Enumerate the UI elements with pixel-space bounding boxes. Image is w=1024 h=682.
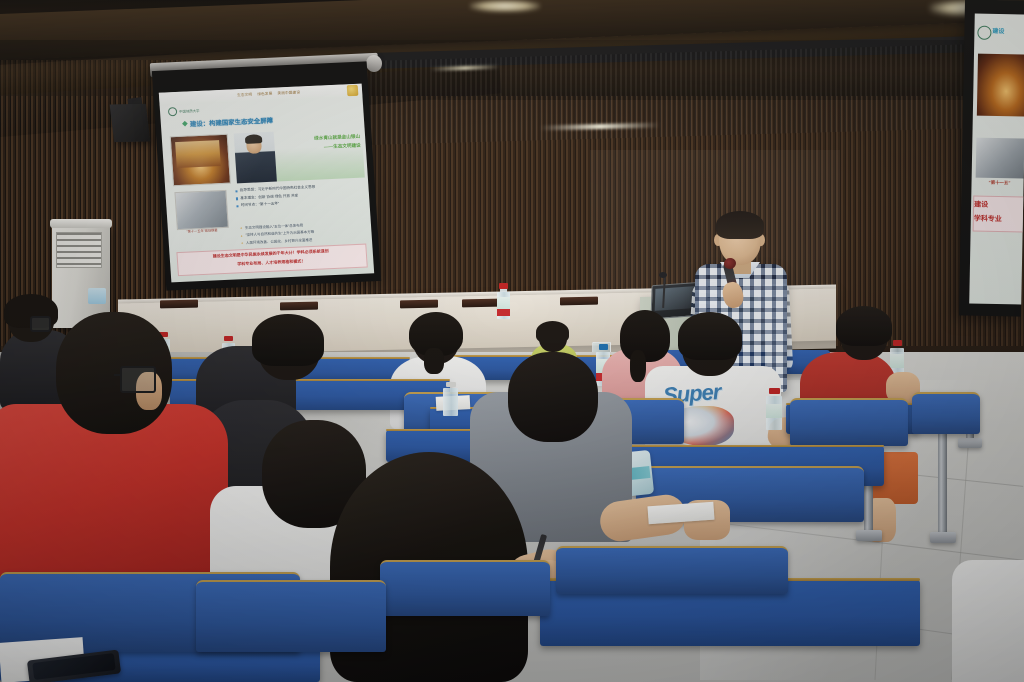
eyeglasses-bridge [114, 374, 122, 376]
seat[interactable] [790, 398, 908, 446]
secondary-slide-caption: “第十一五” [975, 180, 1023, 187]
bottle-cap [769, 388, 780, 394]
bullet-square-icon [236, 197, 239, 199]
air-conditioner-top [50, 219, 112, 228]
desk-pole-foot [958, 438, 982, 448]
table-clip [160, 300, 198, 309]
bottle-cap [224, 336, 233, 341]
bottle-cap [446, 382, 456, 387]
slide-badge-icon [347, 85, 359, 96]
slide-topbar-item-0: 生态文明 [237, 92, 253, 98]
secondary-highlight-line-1: 学科专业 [974, 213, 1024, 228]
presenter-hair [716, 211, 764, 239]
bottle-label-red [497, 309, 510, 316]
water-bottle[interactable] [443, 382, 459, 416]
slide-green-banner: 绿水青山就是金山银山 ——生态文明建设 [286, 132, 361, 157]
secondary-slide-subphoto [976, 138, 1024, 179]
secondary-slide-title: 建设 [992, 26, 1024, 36]
slide-topbar-item-1: 绿色发展 [257, 91, 273, 97]
air-conditioner-panel[interactable] [88, 288, 106, 304]
desk-support-pole [938, 416, 947, 538]
audience-person-ponytail [424, 348, 444, 374]
bottle-cap [599, 344, 608, 350]
bottle-label [890, 354, 904, 368]
slide-bullet-list-1: 指导思想：习近平新时代中国特色社会主义思想 基本理念：创新 协调 绿色 开放 共… [235, 182, 365, 222]
bottle-cap [893, 340, 902, 346]
secondary-slide-highlight-text: 建设 学科专业 [974, 199, 1024, 228]
seat[interactable] [380, 560, 550, 616]
table-clip [462, 299, 500, 308]
air-vent-icon [56, 232, 102, 268]
seat[interactable] [196, 580, 386, 652]
table-clip [560, 297, 598, 306]
secondary-screen-surface[interactable]: 建设 “第十一五” 建设 学科专业 [969, 14, 1024, 305]
slide-topbar-item-2: 美丽中国建设 [277, 90, 300, 96]
slide-org-name: 中国地质大学 [179, 107, 200, 113]
table-clip [400, 300, 438, 309]
desk-pole-foot [856, 530, 882, 541]
audience-person-head [508, 352, 598, 442]
bullet-star-icon: ✦ [241, 242, 244, 245]
slide-bullet-2: 时间节点：“第十一五年” [241, 201, 280, 210]
audience-person-hair [836, 306, 892, 346]
logo-mark-icon [168, 106, 178, 115]
secondary-highlight-line-0: 建设 [974, 199, 1024, 214]
water-bottle[interactable] [766, 388, 783, 430]
seat[interactable] [556, 546, 788, 594]
slide-title-bullet-icon [182, 121, 188, 127]
slide-secondary-photo [174, 190, 228, 230]
slide-title-text: 建设：构建国家生态安全屏障 [190, 115, 274, 128]
table-clip [280, 302, 318, 311]
water-bottle[interactable] [497, 283, 511, 319]
audience-person-ponytail [630, 350, 646, 382]
audience-person-hair [678, 312, 742, 360]
audience-person-hair [252, 314, 324, 366]
secondary-slide-logo-icon [977, 26, 991, 40]
eyeglasses-icon [30, 316, 51, 332]
bullet-star-icon: ✦ [240, 235, 243, 238]
audience-person-torso [952, 560, 1024, 682]
bottle-label [766, 404, 782, 418]
slide-org-logo: 中国地质大学 [168, 105, 212, 115]
bullet-square-icon [236, 205, 239, 207]
audience-person-hair [620, 310, 670, 362]
slide-secondary-photo-caption: “第十一五年”规划纲要 [177, 227, 227, 236]
desk-edge [628, 445, 884, 447]
audience-person-hair [536, 321, 569, 343]
slide-photo-hall-detail [175, 140, 221, 168]
desk-pole-foot [930, 532, 956, 543]
slide-green-line-1: ——生态文明建设 [286, 141, 361, 153]
bullet-square-icon [235, 190, 238, 192]
loudspeaker-icon [110, 104, 151, 142]
slide-portrait-hair [245, 134, 263, 144]
seat[interactable] [912, 392, 980, 434]
bottle-body [443, 388, 458, 416]
ceiling-light-center-icon [470, 0, 540, 12]
microphone-icon[interactable] [659, 272, 667, 278]
lecture-hall-photo: 生态文明 绿色发展 美丽中国建设 中国地质大学 建设：构建国家生态安全屏障 绿水… [0, 0, 1024, 682]
projection-screen-surface[interactable]: 生态文明 绿色发展 美丽中国建设 中国地质大学 建设：构建国家生态安全屏障 绿水… [159, 84, 374, 283]
eyeglasses-icon [120, 366, 156, 393]
bullet-star-icon: ✦ [240, 227, 243, 230]
secondary-slide-photo [977, 54, 1024, 117]
